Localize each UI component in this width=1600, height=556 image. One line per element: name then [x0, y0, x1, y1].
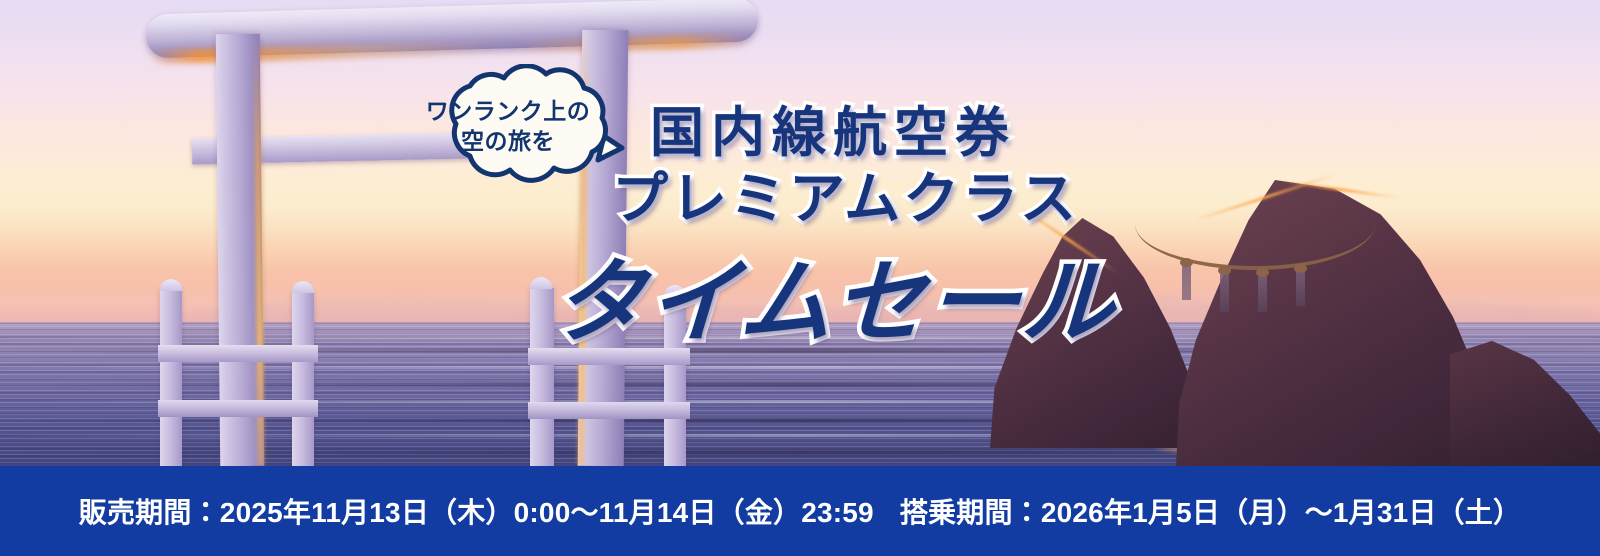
gohei-streamer	[1258, 276, 1267, 312]
info-bar-text: 販売期間：2025年11月13日（木）0:00〜11月14日（金）23:59搭乗…	[79, 491, 1521, 531]
flight-period-value: 2026年1月5日（月）〜1月31日（土）	[1041, 497, 1521, 528]
promo-banner[interactable]: ワンランク上の 空の旅を 国内線航空券 プレミアムクラス タイムセール 販売期間…	[0, 0, 1600, 556]
gohei-streamer	[1296, 272, 1305, 306]
gohei-streamer	[1182, 266, 1191, 300]
torii-brace	[528, 402, 690, 419]
info-bar: 販売期間：2025年11月13日（木）0:00〜11月14日（金）23:59搭乗…	[0, 466, 1600, 556]
rock-ledge	[1450, 330, 1600, 466]
torii-support-post	[160, 290, 182, 466]
headline-line-2: プレミアムクラス	[612, 154, 1079, 235]
gohei-streamer	[1220, 274, 1229, 312]
torii-support-post	[292, 292, 314, 466]
torii-brace	[158, 345, 318, 362]
headline-block: 国内線航空券 プレミアムクラス タイムセール	[540, 88, 1100, 358]
headline-line-3: タイムセール	[551, 228, 1120, 361]
sale-period-value: 2025年11月13日（木）0:00〜11月14日（金）23:59	[220, 497, 874, 528]
sale-period-label: 販売期間：	[79, 497, 220, 528]
flight-period-label: 搭乗期間：	[900, 497, 1041, 528]
torii-brace	[158, 400, 318, 417]
